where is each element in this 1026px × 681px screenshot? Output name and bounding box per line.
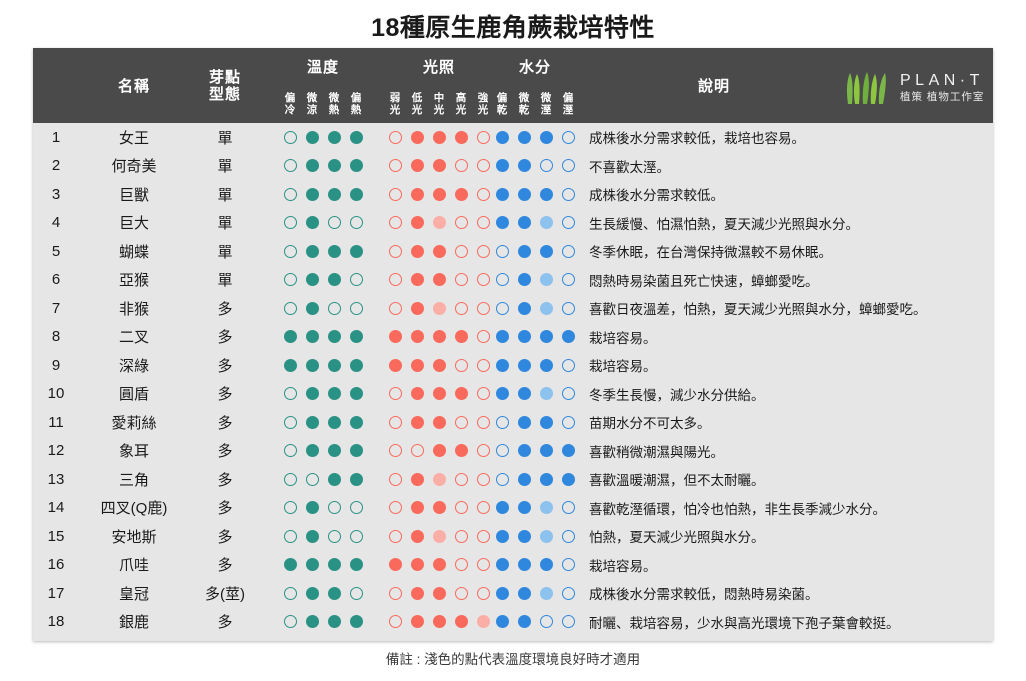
rating-dot-temp-full (350, 188, 363, 201)
dot-slot-water-3 (557, 188, 579, 201)
dot-slot-temp-1 (301, 387, 323, 400)
rating-dot-temp-full (350, 159, 363, 172)
row-plant-name: 女王 (79, 127, 189, 148)
rating-dot-light-empty (389, 587, 402, 600)
dot-group-light (378, 294, 500, 323)
dot-slot-temp-2 (323, 188, 345, 201)
rating-dot-temp-empty (284, 245, 297, 258)
rating-dot-water-empty (562, 131, 575, 144)
dot-group-light (378, 152, 500, 181)
rating-dot-water-full (562, 444, 575, 457)
plant-leaves-icon (845, 71, 891, 105)
rating-dot-temp-full (284, 330, 297, 343)
row-number: 3 (33, 186, 79, 203)
row-number: 8 (33, 328, 79, 345)
rating-dot-light-full (455, 387, 468, 400)
row-description: 生長緩慢、怕濕怕熱，夏天減少光照與水分。 (589, 213, 987, 233)
rating-dot-light-full (433, 587, 446, 600)
row-description: 喜歡溫暖潮濕，但不太耐曬。 (589, 469, 987, 489)
subheader-temp-0: 偏 冷 (279, 92, 301, 116)
dot-slot-light-0 (384, 473, 406, 486)
dot-slot-temp-1 (301, 359, 323, 372)
rating-dot-water-lite (540, 302, 553, 315)
row-number: 2 (33, 157, 79, 174)
row-bud-type: 單 (189, 184, 261, 205)
rating-dot-temp-full (350, 416, 363, 429)
dot-slot-light-3 (450, 245, 472, 258)
rating-dot-temp-empty (284, 131, 297, 144)
rating-dot-water-empty (540, 159, 553, 172)
dot-slot-water-0 (491, 473, 513, 486)
rating-dot-temp-full (328, 188, 341, 201)
dot-group-water (485, 437, 585, 466)
row-number: 7 (33, 300, 79, 317)
row-description: 喜歡稍微潮濕與陽光。 (589, 441, 987, 461)
dot-slot-light-2 (428, 273, 450, 286)
rating-dot-temp-empty (284, 444, 297, 457)
dot-group-water (485, 266, 585, 295)
row-bud-type: 多 (189, 497, 261, 518)
rating-dot-water-full (540, 416, 553, 429)
rating-dot-temp-full (306, 558, 319, 571)
rating-dot-water-full (540, 188, 553, 201)
dot-slot-light-3 (450, 302, 472, 315)
row-number: 12 (33, 442, 79, 459)
rating-dot-light-full (411, 330, 424, 343)
rating-dot-water-empty (562, 302, 575, 315)
row-description: 冬季生長慢，減少水分供給。 (589, 384, 987, 404)
dot-slot-water-2 (535, 273, 557, 286)
rating-dot-temp-full (306, 330, 319, 343)
dot-slot-water-0 (491, 444, 513, 457)
dot-slot-light-2 (428, 444, 450, 457)
dot-slot-temp-1 (301, 245, 323, 258)
rating-dot-light-full (433, 615, 446, 628)
rating-dot-water-full (496, 558, 509, 571)
dot-slot-temp-2 (323, 245, 345, 258)
dot-slot-light-3 (450, 330, 472, 343)
dot-group-water (485, 351, 585, 380)
dot-slot-temp-1 (301, 330, 323, 343)
rating-dot-temp-full (306, 359, 319, 372)
row-number: 16 (33, 556, 79, 573)
table-row: 8二叉多栽培容易。 (33, 323, 993, 352)
dot-slot-light-2 (428, 387, 450, 400)
rating-dot-water-full (496, 330, 509, 343)
dot-group-water (485, 180, 585, 209)
rating-dot-light-full (455, 330, 468, 343)
rating-dot-temp-full (328, 473, 341, 486)
dot-slot-temp-0 (279, 302, 301, 315)
dot-slot-temp-2 (323, 615, 345, 628)
dot-slot-temp-2 (323, 444, 345, 457)
dot-slot-temp-1 (301, 501, 323, 514)
subheader-light-0: 弱 光 (384, 92, 406, 116)
dot-slot-light-3 (450, 131, 472, 144)
dot-group-temp (273, 608, 373, 637)
dot-slot-water-3 (557, 302, 579, 315)
rating-dot-temp-full (350, 330, 363, 343)
rating-dot-temp-full (350, 359, 363, 372)
row-bud-type: 單 (189, 127, 261, 148)
rating-dot-temp-full (328, 273, 341, 286)
table-row: 13三角多喜歡溫暖潮濕，但不太耐曬。 (33, 465, 993, 494)
dot-slot-temp-3 (345, 473, 367, 486)
dot-group-water (485, 209, 585, 238)
dot-slot-water-0 (491, 387, 513, 400)
rating-dot-temp-full (350, 245, 363, 258)
row-plant-name: 亞猴 (79, 269, 189, 290)
dot-slot-light-3 (450, 416, 472, 429)
brand-tagline: 植策 植物工作室 (900, 90, 984, 105)
header-group-light: 光照 弱 光 低 光 中 光 高 光 (378, 48, 500, 123)
dot-slot-temp-1 (301, 302, 323, 315)
table-row: 4巨大單生長緩慢、怕濕怕熱，夏天減少光照與水分。 (33, 209, 993, 238)
rating-dot-light-empty (389, 530, 402, 543)
rating-dot-water-empty (496, 444, 509, 457)
row-plant-name: 二叉 (79, 326, 189, 347)
row-number: 13 (33, 471, 79, 488)
dot-slot-temp-1 (301, 416, 323, 429)
row-bud-type: 多 (189, 383, 261, 404)
dot-group-light (378, 209, 500, 238)
rating-dot-light-full (433, 558, 446, 571)
subheader-water-3: 偏 溼 (557, 92, 579, 116)
dot-slot-light-1 (406, 530, 428, 543)
dot-slot-temp-0 (279, 245, 301, 258)
dot-slot-water-2 (535, 558, 557, 571)
table-row: 14四叉(Q鹿)多喜歡乾溼循環，怕冷也怕熱，非生長季減少水分。 (33, 494, 993, 523)
dot-slot-light-0 (384, 330, 406, 343)
dot-slot-light-2 (428, 245, 450, 258)
dot-slot-water-3 (557, 387, 579, 400)
dot-slot-water-0 (491, 245, 513, 258)
dot-slot-temp-3 (345, 188, 367, 201)
rating-dot-water-lite (540, 216, 553, 229)
dot-slot-light-2 (428, 501, 450, 514)
rating-dot-temp-empty (284, 302, 297, 315)
rating-dot-light-full (411, 245, 424, 258)
dot-slot-light-1 (406, 359, 428, 372)
dot-slot-light-1 (406, 216, 428, 229)
rating-dot-light-empty (455, 587, 468, 600)
dot-slot-light-1 (406, 159, 428, 172)
dot-slot-water-1 (513, 359, 535, 372)
rating-dot-light-full (411, 188, 424, 201)
dot-group-light (378, 437, 500, 466)
dot-slot-light-3 (450, 387, 472, 400)
dot-slot-water-0 (491, 558, 513, 571)
row-description: 栽培容易。 (589, 555, 987, 575)
dot-slot-temp-2 (323, 558, 345, 571)
rating-dot-light-full (389, 359, 402, 372)
rating-dot-water-full (496, 387, 509, 400)
dot-slot-water-2 (535, 302, 557, 315)
table-row: 9深綠多栽培容易。 (33, 351, 993, 380)
rating-dot-water-empty (562, 387, 575, 400)
rating-dot-water-full (518, 587, 531, 600)
rating-dot-temp-full (328, 444, 341, 457)
rating-dot-water-empty (496, 245, 509, 258)
rating-dot-light-empty (389, 416, 402, 429)
dot-slot-light-3 (450, 615, 472, 628)
dot-slot-water-3 (557, 587, 579, 600)
table-row: 1女王單成株後水分需求較低，栽培也容易。 (33, 123, 993, 152)
rating-dot-light-full (433, 501, 446, 514)
dot-slot-temp-3 (345, 131, 367, 144)
row-number: 15 (33, 528, 79, 545)
dot-slot-water-2 (535, 188, 557, 201)
brand-logo: PLAN·T 植策 植物工作室 (845, 66, 1015, 110)
rating-dot-temp-empty (284, 530, 297, 543)
rating-dot-temp-full (350, 615, 363, 628)
rating-dot-water-full (496, 530, 509, 543)
dot-slot-water-2 (535, 359, 557, 372)
row-bud-type: 多 (189, 611, 261, 632)
rating-dot-temp-full (350, 131, 363, 144)
dot-slot-water-1 (513, 615, 535, 628)
rating-dot-water-lite (540, 530, 553, 543)
rating-dot-water-empty (562, 216, 575, 229)
dot-slot-temp-3 (345, 530, 367, 543)
dot-slot-water-1 (513, 587, 535, 600)
rating-dot-light-full (455, 444, 468, 457)
dot-slot-temp-3 (345, 587, 367, 600)
rating-dot-light-full (433, 273, 446, 286)
rating-dot-light-empty (389, 159, 402, 172)
row-plant-name: 安地斯 (79, 526, 189, 547)
rating-dot-light-full (411, 530, 424, 543)
rating-dot-temp-full (306, 444, 319, 457)
dot-group-light (378, 266, 500, 295)
dot-slot-temp-2 (323, 501, 345, 514)
poster-root: 18種原生鹿角蕨栽培特性 名稱 芽點 型態 溫度 偏 冷 微 (0, 0, 1026, 681)
dot-slot-light-1 (406, 501, 428, 514)
rating-dot-temp-full (306, 216, 319, 229)
dot-slot-temp-0 (279, 188, 301, 201)
rating-dot-water-empty (562, 273, 575, 286)
row-bud-type: 多 (189, 326, 261, 347)
rating-dot-water-full (518, 188, 531, 201)
rating-dot-light-full (433, 330, 446, 343)
rating-dot-temp-full (328, 359, 341, 372)
dot-slot-water-3 (557, 359, 579, 372)
rating-dot-water-full (518, 302, 531, 315)
dot-slot-water-0 (491, 501, 513, 514)
dot-slot-temp-0 (279, 330, 301, 343)
header-name: 名稱 (79, 48, 189, 123)
dot-slot-temp-0 (279, 387, 301, 400)
dot-group-light (378, 180, 500, 209)
dot-slot-water-1 (513, 558, 535, 571)
rating-dot-water-lite (540, 587, 553, 600)
dot-slot-temp-0 (279, 216, 301, 229)
dot-group-temp (273, 180, 373, 209)
row-plant-name: 象耳 (79, 440, 189, 461)
row-description: 不喜歡太溼。 (589, 156, 987, 176)
dot-group-temp (273, 551, 373, 580)
dot-slot-light-2 (428, 159, 450, 172)
dot-slot-water-1 (513, 188, 535, 201)
dot-slot-light-3 (450, 558, 472, 571)
rating-dot-water-full (518, 473, 531, 486)
rating-dot-temp-empty (328, 302, 341, 315)
dot-slot-temp-2 (323, 387, 345, 400)
rating-dot-temp-full (350, 444, 363, 457)
rating-dot-temp-empty (284, 587, 297, 600)
rating-dot-light-empty (455, 416, 468, 429)
dot-group-water (485, 408, 585, 437)
row-number: 18 (33, 613, 79, 630)
dot-slot-temp-0 (279, 444, 301, 457)
row-plant-name: 圓盾 (79, 383, 189, 404)
row-description: 喜歡日夜溫差，怕熱，夏天減少光照與水分，蟑螂愛吃。 (589, 298, 987, 318)
dot-slot-water-1 (513, 159, 535, 172)
rating-dot-light-empty (455, 245, 468, 258)
rating-dot-light-full (411, 216, 424, 229)
dot-slot-water-2 (535, 501, 557, 514)
table-header: 名稱 芽點 型態 溫度 偏 冷 微 涼 (33, 48, 993, 123)
dot-slot-temp-0 (279, 587, 301, 600)
dot-slot-light-0 (384, 501, 406, 514)
rating-dot-light-full (411, 615, 424, 628)
rating-dot-temp-full (306, 587, 319, 600)
dot-slot-water-0 (491, 615, 513, 628)
rating-dot-water-full (496, 188, 509, 201)
dot-slot-light-1 (406, 188, 428, 201)
rating-dot-light-empty (455, 473, 468, 486)
dot-group-temp (273, 408, 373, 437)
row-bud-type: 單 (189, 212, 261, 233)
rating-dot-temp-full (284, 359, 297, 372)
dot-slot-temp-1 (301, 188, 323, 201)
dot-slot-water-3 (557, 444, 579, 457)
rating-dot-light-full (433, 188, 446, 201)
dot-slot-temp-2 (323, 131, 345, 144)
footnote: 備註 : 淺色的點代表溫度環境良好時才適用 (0, 648, 1026, 668)
rating-dot-water-empty (540, 615, 553, 628)
dot-slot-temp-3 (345, 302, 367, 315)
dot-slot-water-3 (557, 330, 579, 343)
dot-slot-water-1 (513, 245, 535, 258)
dot-group-temp (273, 209, 373, 238)
dot-slot-light-1 (406, 387, 428, 400)
rating-dot-light-empty (389, 444, 402, 457)
rating-dot-light-full (455, 615, 468, 628)
row-description: 成株後水分需求較低，悶熱時易染菌。 (589, 583, 987, 603)
rating-dot-temp-full (306, 131, 319, 144)
rating-dot-temp-empty (284, 188, 297, 201)
rating-dot-temp-full (306, 302, 319, 315)
rating-dot-temp-empty (284, 216, 297, 229)
subheader-water-2: 微 溼 (535, 92, 557, 116)
rating-dot-light-empty (455, 216, 468, 229)
rating-dot-light-empty (389, 131, 402, 144)
rating-dot-temp-full (328, 558, 341, 571)
row-plant-name: 巨大 (79, 212, 189, 233)
dot-slot-light-3 (450, 501, 472, 514)
dot-slot-light-3 (450, 159, 472, 172)
subheader-temp-3: 偏 熱 (345, 92, 367, 116)
dot-slot-light-3 (450, 587, 472, 600)
rating-dot-water-lite (540, 501, 553, 514)
dot-group-temp (273, 437, 373, 466)
row-plant-name: 何奇美 (79, 155, 189, 176)
dot-slot-water-3 (557, 216, 579, 229)
header-group-temperature: 溫度 偏 冷 微 涼 微 熱 偏 熱 (273, 48, 373, 123)
row-description: 成株後水分需求較低，栽培也容易。 (589, 127, 987, 147)
dot-group-water (485, 294, 585, 323)
dot-group-temp (273, 266, 373, 295)
subheader-temp-2: 微 熱 (323, 92, 345, 116)
dot-slot-temp-1 (301, 216, 323, 229)
row-description: 栽培容易。 (589, 355, 987, 375)
dot-slot-temp-1 (301, 587, 323, 600)
rating-dot-light-lite (433, 216, 446, 229)
dot-group-light (378, 351, 500, 380)
row-plant-name: 巨獸 (79, 184, 189, 205)
dot-group-water (485, 380, 585, 409)
rating-dot-light-full (411, 473, 424, 486)
dot-slot-light-1 (406, 245, 428, 258)
rating-dot-water-full (540, 444, 553, 457)
dot-slot-light-2 (428, 359, 450, 372)
row-bud-type: 多(莖) (189, 583, 261, 604)
dot-slot-light-2 (428, 302, 450, 315)
rating-dot-light-full (411, 131, 424, 144)
dot-slot-temp-3 (345, 159, 367, 172)
row-plant-name: 深綠 (79, 355, 189, 376)
dot-slot-water-1 (513, 387, 535, 400)
rating-dot-temp-empty (284, 473, 297, 486)
header-bud-type: 芽點 型態 (189, 48, 261, 123)
table-row: 7非猴多喜歡日夜溫差，怕熱，夏天減少光照與水分，蟑螂愛吃。 (33, 294, 993, 323)
dot-group-water (485, 522, 585, 551)
dot-group-light (378, 123, 500, 152)
dot-group-temp (273, 237, 373, 266)
dot-slot-water-2 (535, 159, 557, 172)
dot-slot-temp-3 (345, 273, 367, 286)
dot-group-temp (273, 152, 373, 181)
dot-group-temp (273, 579, 373, 608)
table-row: 17皇冠多(莖)成株後水分需求較低，悶熱時易染菌。 (33, 579, 993, 608)
dot-slot-light-0 (384, 444, 406, 457)
rating-dot-light-empty (389, 387, 402, 400)
dot-slot-temp-0 (279, 131, 301, 144)
row-description: 栽培容易。 (589, 327, 987, 347)
dot-slot-light-2 (428, 558, 450, 571)
rating-dot-water-lite (540, 387, 553, 400)
rating-dot-temp-full (328, 615, 341, 628)
rating-dot-water-lite (540, 273, 553, 286)
header-description: 說明 (589, 48, 839, 123)
rating-dot-temp-empty (284, 273, 297, 286)
rating-dot-water-full (496, 615, 509, 628)
dot-slot-water-2 (535, 530, 557, 543)
rating-dot-temp-empty (284, 615, 297, 628)
row-plant-name: 蝴蝶 (79, 241, 189, 262)
dot-group-water (485, 608, 585, 637)
rating-dot-water-full (518, 444, 531, 457)
dot-slot-temp-0 (279, 501, 301, 514)
rating-dot-light-full (411, 416, 424, 429)
dot-slot-water-3 (557, 131, 579, 144)
rating-dot-temp-full (306, 416, 319, 429)
dot-slot-light-2 (428, 587, 450, 600)
dot-slot-light-1 (406, 416, 428, 429)
rating-dot-light-full (411, 273, 424, 286)
dot-slot-light-1 (406, 444, 428, 457)
